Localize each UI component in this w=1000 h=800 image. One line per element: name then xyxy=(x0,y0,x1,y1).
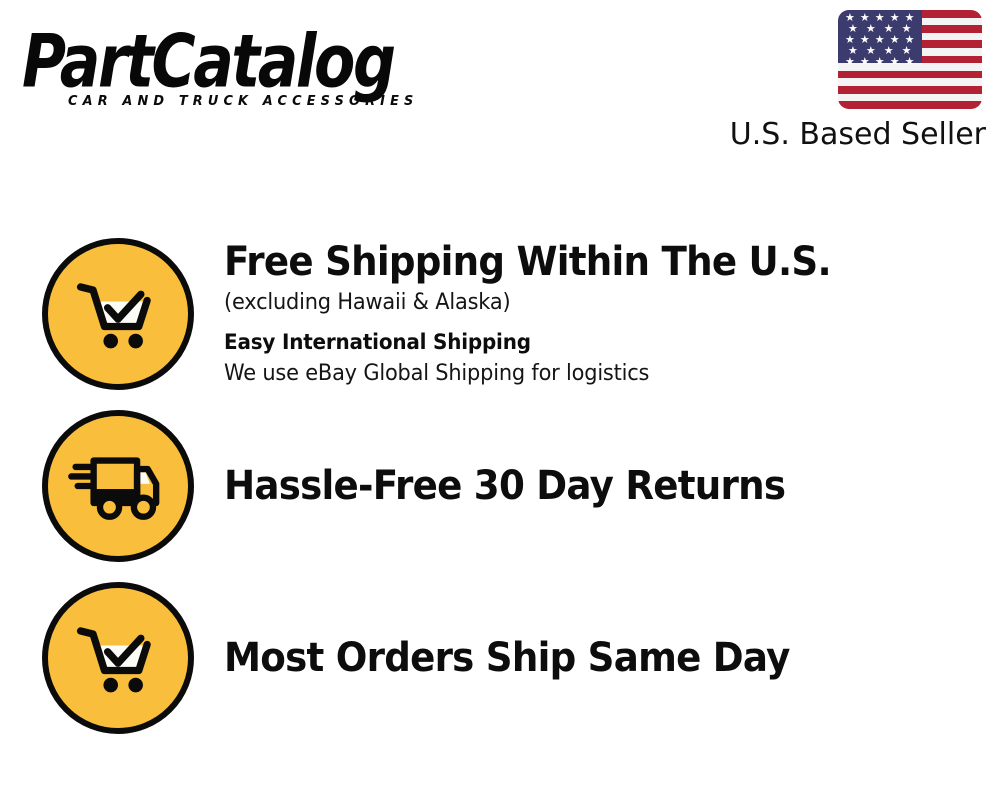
flag-stripe xyxy=(838,71,982,79)
flag-star: ★ xyxy=(905,57,915,68)
flag-star: ★ xyxy=(875,57,885,68)
flag-star: ★ xyxy=(845,57,855,68)
flag-stripe xyxy=(838,94,982,102)
feature-text: Most Orders Ship Same Day xyxy=(224,635,1000,682)
banner-header: PartCatalog CAR AND TRUCK ACCESSORIES xyxy=(0,0,1000,175)
feature-headline: Most Orders Ship Same Day xyxy=(224,635,927,682)
flag-star-row: ★ ★ ★ ★ ★ xyxy=(840,57,920,68)
feature-list: Free Shipping Within The U.S. (excluding… xyxy=(0,228,1000,768)
feature-text: Hassle-Free 30 Day Returns xyxy=(224,463,1000,510)
feature-headline: Hassle-Free 30 Day Returns xyxy=(224,463,927,510)
shopping-cart-check-icon xyxy=(42,582,194,734)
feature-subhead: Easy International Shipping xyxy=(224,326,942,358)
delivery-truck-icon xyxy=(42,410,194,562)
feature-row: Hassle-Free 30 Day Returns xyxy=(0,400,1000,572)
flag-stripe xyxy=(838,78,982,86)
flag-star: ★ xyxy=(860,57,870,68)
brand-wordmark: PartCatalog xyxy=(22,18,394,105)
us-flag-icon: ★ ★ ★ ★ ★ ★ ★ ★ ★ ★ ★ ★ xyxy=(838,10,982,109)
feature-headline: Free Shipping Within The U.S. xyxy=(224,239,927,286)
feature-row: Free Shipping Within The U.S. (excluding… xyxy=(0,228,1000,400)
seller-info-banner: PartCatalog CAR AND TRUCK ACCESSORIES xyxy=(0,0,1000,800)
flag-stripe xyxy=(838,101,982,109)
seller-badge: ★ ★ ★ ★ ★ ★ ★ ★ ★ ★ ★ ★ xyxy=(714,8,986,158)
feature-sub: (excluding Hawaii & Alaska) xyxy=(224,286,942,320)
seller-caption: U.S. Based Seller xyxy=(714,116,986,154)
brand-logo: PartCatalog CAR AND TRUCK ACCESSORIES xyxy=(22,18,502,118)
flag-stripe xyxy=(838,86,982,94)
feature-note: We use eBay Global Shipping for logistic… xyxy=(224,358,942,390)
shopping-cart-check-icon xyxy=(42,238,194,390)
flag-canton: ★ ★ ★ ★ ★ ★ ★ ★ ★ ★ ★ ★ xyxy=(838,10,922,63)
brand-tagline: CAR AND TRUCK ACCESSORIES xyxy=(68,94,418,110)
flag-star: ★ xyxy=(890,57,900,68)
feature-row: Most Orders Ship Same Day xyxy=(0,572,1000,744)
feature-text: Free Shipping Within The U.S. (excluding… xyxy=(224,239,1000,390)
